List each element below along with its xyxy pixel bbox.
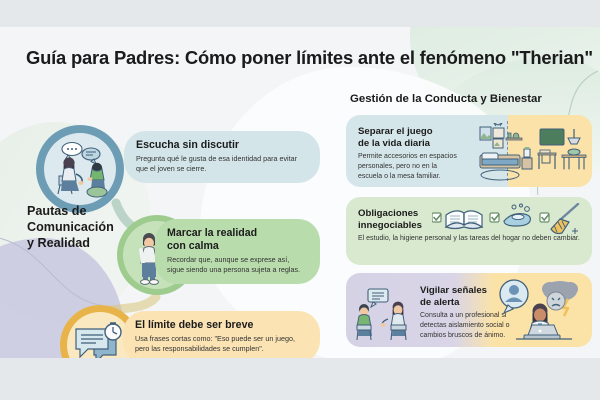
right-item-2-card[interactable]: Obligaciones innegociables El estudio, l… — [346, 197, 592, 265]
infographic-canvas: Guía para Padres: Cómo poner límites ant… — [0, 27, 600, 358]
left-item-2-heading-line2: con calma — [167, 240, 219, 252]
bedroom-vs-classroom-icon — [470, 123, 588, 181]
right-section-label: Gestión de la Conducta y Bienestar — [350, 93, 542, 105]
checklist-book-soap-broom-icon — [432, 203, 588, 239]
left-section-label: Pautas de Comunicación y Realidad — [27, 203, 132, 251]
right-item-1-heading-line1: Separar el juego — [358, 126, 433, 137]
left-item-1-pill[interactable]: Escucha sin discutir Pregunta qué le gus… — [124, 131, 320, 183]
right-item-1-text: Separar el juego de la vida diaria Permi… — [358, 126, 463, 182]
right-item-2-heading-line2: innegociables — [358, 220, 422, 231]
right-item-1-heading-line2: de la vida diaria — [358, 138, 430, 149]
left-item-3-pill[interactable]: El límite debe ser breve Usa frases cort… — [123, 311, 320, 358]
right-item-3-card[interactable]: Vigilar señales de alerta Consulta a un … — [346, 273, 592, 347]
right-item-1-body: Permite accesorios en espacios personale… — [358, 152, 463, 182]
left-item-3-heading: El límite debe ser breve — [135, 319, 308, 332]
right-item-1-card[interactable]: Separar el juego de la vida diaria Permi… — [346, 115, 592, 187]
right-item-1-heading: Separar el juego de la vida diaria — [358, 126, 463, 149]
parent-teen-talking-icon — [352, 285, 418, 343]
left-section-label-line3: y Realidad — [27, 236, 90, 250]
right-item-2-heading-line1: Obligaciones — [358, 208, 418, 219]
left-section-label-line1: Pautas de — [27, 204, 87, 218]
left-item-2-body: Recordar que, aunque se exprese así, sig… — [167, 255, 308, 275]
right-column: Gestión de la Conducta y Bienestar Separ… — [336, 27, 600, 358]
left-item-1-body: Pregunta qué le gusta de esa identidad p… — [136, 154, 308, 174]
counselor-and-mood-icon — [494, 277, 590, 345]
right-item-3-heading-line2: de alerta — [420, 297, 459, 308]
left-item-3-body: Usa frases cortas como: "Eso puede ser u… — [135, 334, 308, 354]
left-item-2-heading: Marcar la realidad con calma — [167, 227, 308, 252]
left-item-2-heading-line1: Marcar la realidad — [167, 227, 257, 239]
two-people-talking-icon — [44, 133, 116, 205]
left-item-1-icon-badge — [36, 125, 124, 213]
right-item-3-heading-line1: Vigilar señales — [420, 285, 487, 296]
left-item-1-heading: Escucha sin discutir — [136, 139, 308, 152]
left-section-label-line2: Comunicación — [27, 220, 114, 234]
left-item-2-pill[interactable]: Marcar la realidad con calma Recordar qu… — [155, 219, 320, 284]
left-column: Escucha sin discutir Pregunta qué le gus… — [0, 27, 330, 358]
